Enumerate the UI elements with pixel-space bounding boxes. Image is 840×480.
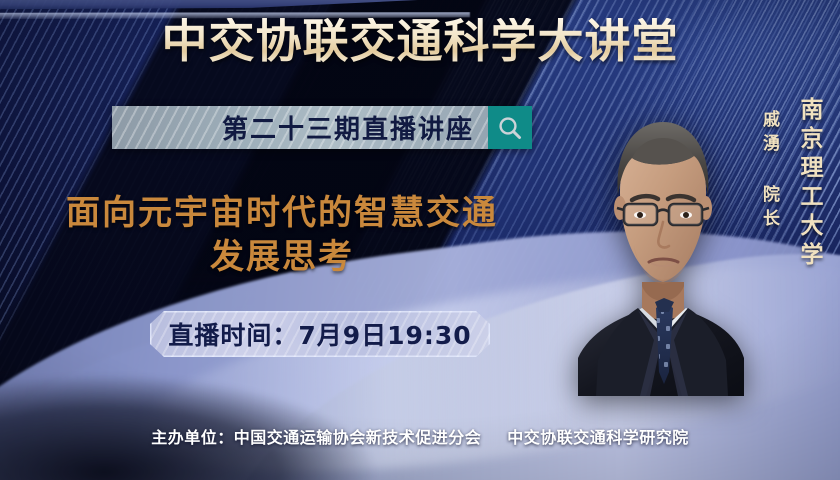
organizer-name-2: 中交协联交通科学研究院 — [507, 428, 689, 447]
organizer-prefix: 主办单位： — [151, 428, 234, 447]
schedule-badge: 直播时间：7月9日19:30 — [150, 311, 490, 357]
headline-line-2: 发展思考 — [22, 236, 542, 280]
lecture-headline: 面向元宇宙时代的智慧交通 发展思考 — [22, 192, 542, 279]
speaker-name-title: 戚湧 院长 — [757, 110, 782, 233]
organizer-name-1: 中国交通运输协会新技术促进分会 — [234, 428, 482, 447]
episode-banner-body: 第二十三期直播讲座 — [112, 106, 488, 149]
episode-label: 第二十三期直播讲座 — [222, 109, 474, 146]
organizer-footer: 主办单位：中国交通运输协会新技术促进分会中交协联交通科学研究院 — [0, 424, 840, 448]
headline-line-1: 面向元宇宙时代的智慧交通 — [66, 193, 498, 233]
schedule-label: 直播时间：7月9日19:30 — [168, 316, 471, 352]
search-icon[interactable] — [488, 106, 532, 149]
page-title: 中交协联交通科学大讲堂 — [0, 18, 840, 64]
episode-banner: 第二十三期直播讲座 — [112, 106, 532, 149]
speaker-portrait — [576, 96, 746, 396]
speaker-organization: 南京理工大学 — [792, 97, 826, 271]
live-stream-poster: 中交协联交通科学大讲堂 第二十三期直播讲座 面向元宇宙时代的智慧交通 发展思考 … — [0, 0, 840, 480]
